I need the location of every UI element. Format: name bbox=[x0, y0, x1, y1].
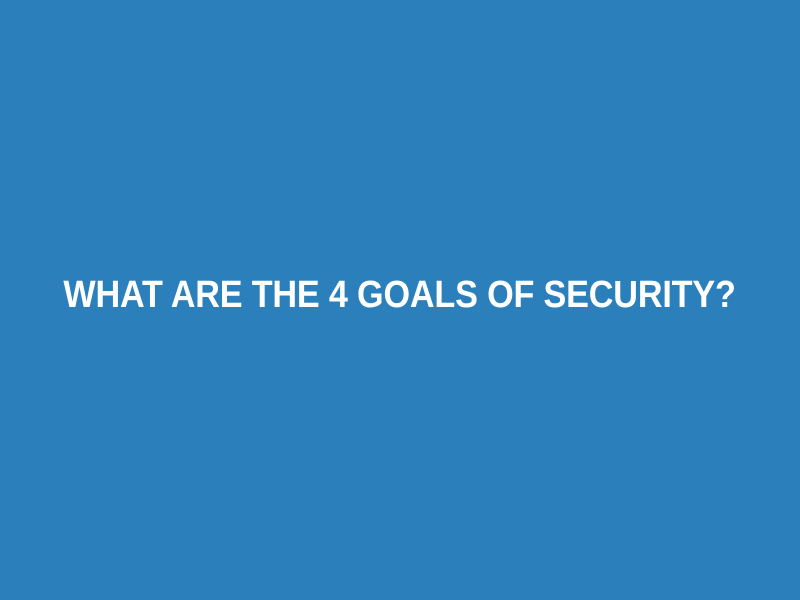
page-title: WHAT ARE THE 4 GOALS OF SECURITY? bbox=[64, 276, 736, 314]
headline-container: WHAT ARE THE 4 GOALS OF SECURITY? bbox=[0, 272, 800, 318]
featured-image-banner: WHAT ARE THE 4 GOALS OF SECURITY? bbox=[0, 0, 800, 600]
